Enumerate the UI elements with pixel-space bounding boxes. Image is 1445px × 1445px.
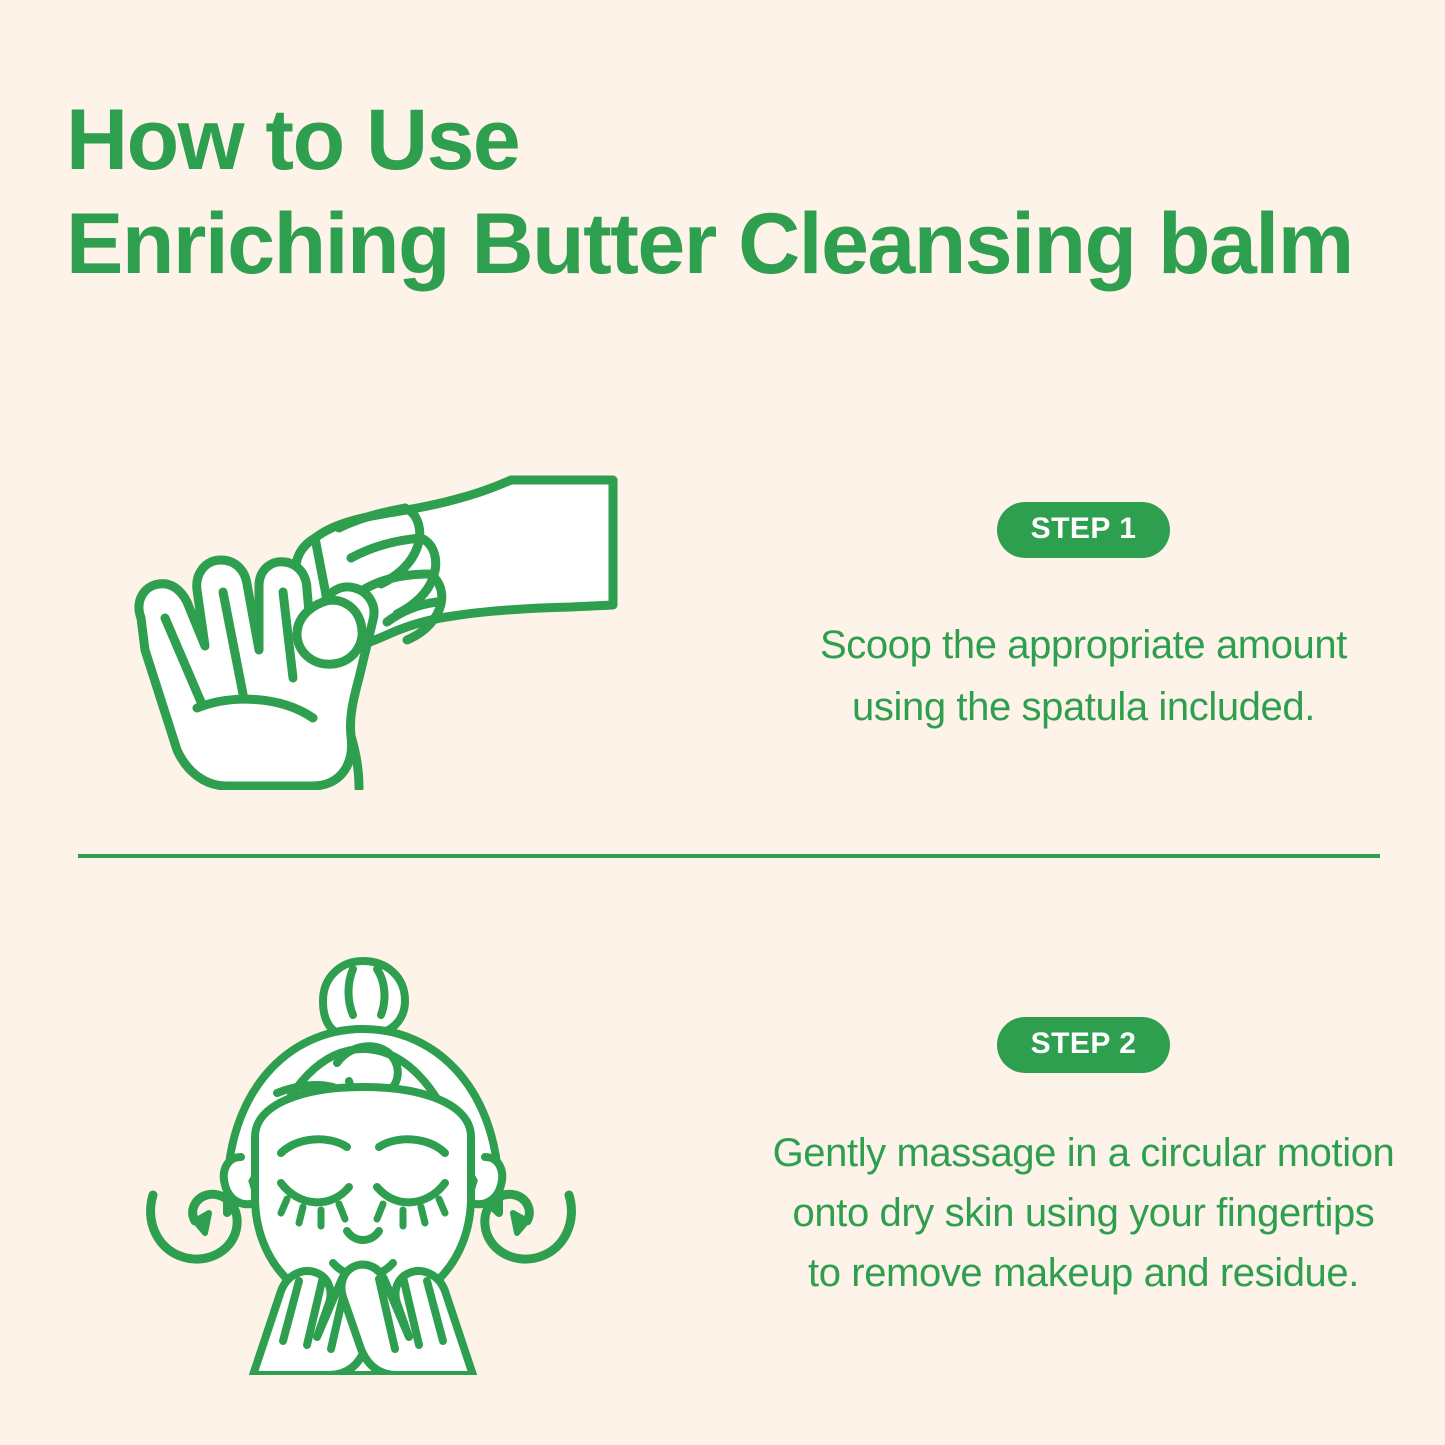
page-title-line-2: Enriching Butter Cleansing balm: [66, 192, 1396, 296]
step-1-badge: STEP 1: [997, 502, 1171, 558]
step-2-description-line-3: to remove makeup and residue.: [773, 1243, 1395, 1303]
step-1-description-line-2: using the spatula included.: [820, 676, 1347, 738]
step-row-2: STEP 2 Gently massage in a circular moti…: [0, 925, 1445, 1395]
hands-with-spatula-icon: [101, 450, 621, 790]
step-1-illustration-cell: [0, 420, 722, 820]
step-row-1: STEP 1 Scoop the appropriate amount usin…: [0, 420, 1445, 820]
step-1-description-line-1: Scoop the appropriate amount: [820, 614, 1347, 676]
step-1-copy-cell: STEP 1 Scoop the appropriate amount usin…: [722, 420, 1445, 820]
step-2-description-line-1: Gently massage in a circular motion: [773, 1123, 1395, 1183]
page-title: How to Use Enriching Butter Cleansing ba…: [66, 88, 1396, 296]
how-to-use-infographic: How to Use Enriching Butter Cleansing ba…: [0, 0, 1445, 1445]
step-2-description-line-2: onto dry skin using your fingertips: [773, 1183, 1395, 1243]
step-2-copy-cell: STEP 2 Gently massage in a circular moti…: [722, 925, 1445, 1395]
step-2-description: Gently massage in a circular motion onto…: [773, 1123, 1395, 1303]
woman-massaging-face-icon: [141, 945, 581, 1375]
step-1-description: Scoop the appropriate amount using the s…: [820, 614, 1347, 738]
step-2-badge: STEP 2: [997, 1017, 1171, 1073]
page-title-line-1: How to Use: [66, 88, 1396, 192]
section-divider: [78, 854, 1380, 858]
step-2-illustration-cell: [0, 925, 722, 1395]
